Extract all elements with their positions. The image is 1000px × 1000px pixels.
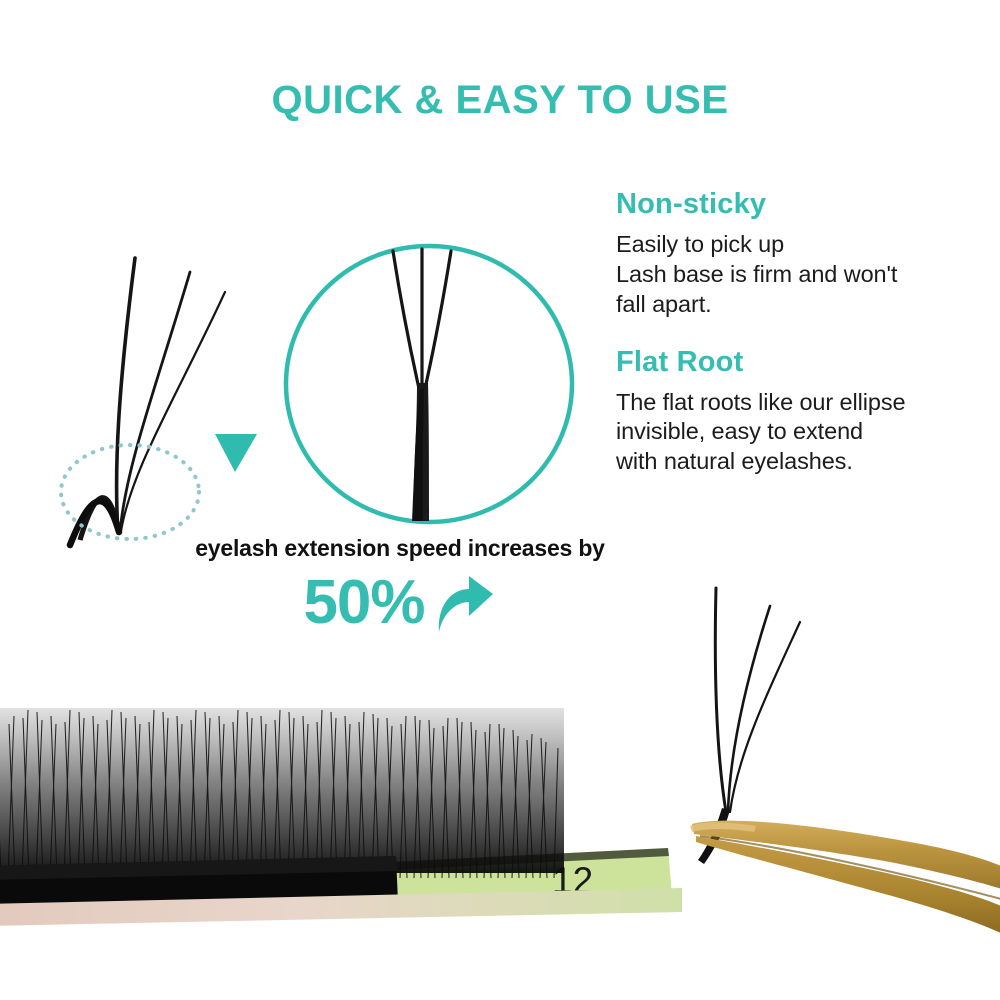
curved-up-arrow-icon	[435, 574, 497, 632]
speed-caption: eyelash extension speed increases by	[0, 535, 800, 562]
feature-flat-root: Flat Root The flat roots like our ellips…	[616, 346, 996, 478]
lash-tray-strip-icon: 12	[0, 690, 682, 940]
feature-body: The flat roots like our ellipse invisibl…	[616, 388, 996, 478]
feature-non-sticky: Non-sticky Easily to pick up Lash base i…	[616, 188, 996, 320]
page-title: QUICK & EASY TO USE	[0, 78, 1000, 123]
magnifier-ellipse-icon	[283, 243, 575, 525]
dotted-circle-icon	[55, 440, 205, 545]
speed-percent-value: 50%	[303, 572, 424, 634]
feature-body: Easily to pick up Lash base is firm and …	[616, 230, 996, 320]
triangle-pointer-icon	[213, 432, 259, 474]
promo-image-canvas: QUICK & EASY TO USE Non-sticky Easil	[0, 0, 1000, 1000]
feature-list: Non-sticky Easily to pick up Lash base i…	[616, 188, 996, 503]
feature-title: Flat Root	[616, 346, 996, 379]
gold-tweezer-icon	[660, 560, 1000, 1000]
feature-title: Non-sticky	[616, 188, 996, 221]
lash-fan-on-tweezer-icon	[715, 588, 800, 812]
